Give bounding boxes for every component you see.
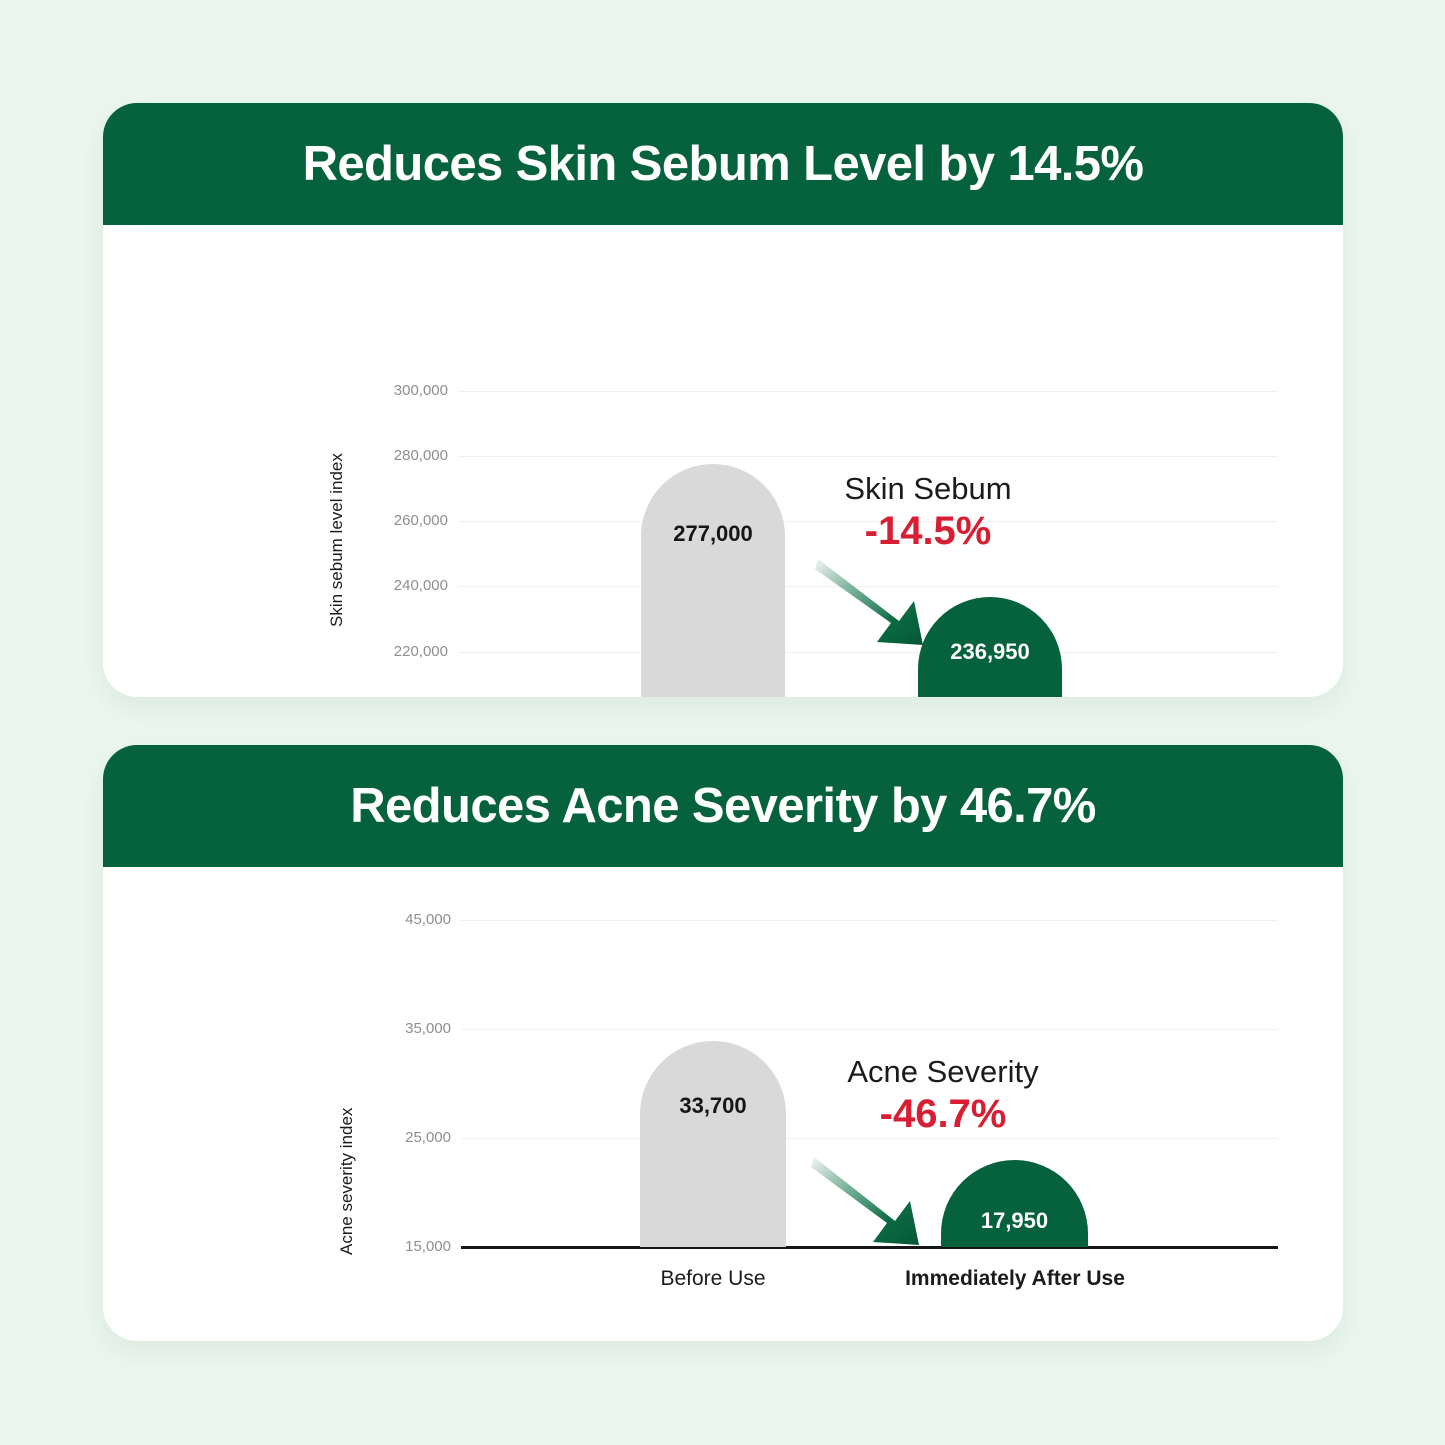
chart-acne-severity: Acne severity index 45,000 35,000 25,000…: [103, 867, 1343, 1341]
card-title-acne-severity: Reduces Acne Severity by 46.7%: [350, 778, 1096, 834]
callout-name-acne-severity: Acne Severity: [775, 1054, 1111, 1091]
gridline: [461, 1029, 1278, 1030]
card-skin-sebum: Reduces Skin Sebum Level by 14.5% Skin s…: [103, 103, 1343, 697]
callout-acne-severity: Acne Severity -46.7%: [775, 1054, 1111, 1138]
y-tick-label: 280,000: [343, 447, 448, 464]
infographic-page: Reduces Skin Sebum Level by 14.5% Skin s…: [0, 0, 1445, 1445]
y-tick-label: 45,000: [353, 911, 451, 928]
x-axis-baseline: [461, 1246, 1278, 1249]
callout-skin-sebum: Skin Sebum -14.5%: [763, 471, 1093, 555]
card-acne-severity: Reduces Acne Severity by 46.7% Acne seve…: [103, 745, 1343, 1341]
gridline: [461, 1138, 1278, 1139]
down-right-arrow-icon: [811, 1155, 951, 1249]
gridline: [461, 920, 1278, 921]
y-tick-label: 260,000: [343, 512, 448, 529]
card-header-acne-severity: Reduces Acne Severity by 46.7%: [103, 745, 1343, 867]
bar-immediately-after-use: 17,950: [941, 1160, 1088, 1247]
y-tick-label: 35,000: [353, 1020, 451, 1037]
y-tick-label: 25,000: [353, 1129, 451, 1146]
bar-value-immediately-after-use: 17,950: [941, 1208, 1088, 1234]
card-header-skin-sebum: Reduces Skin Sebum Level by 14.5%: [103, 103, 1343, 225]
bar-value-immediately-after-use: 236,950: [918, 639, 1062, 665]
chart-skin-sebum: Skin sebum level index 300,000 280,000 2…: [103, 225, 1343, 697]
x-category-label-immediately-after-use: Immediately After Use: [885, 1267, 1145, 1291]
card-title-skin-sebum: Reduces Skin Sebum Level by 14.5%: [303, 136, 1144, 192]
card-body-skin-sebum: Skin sebum level index 300,000 280,000 2…: [103, 225, 1343, 697]
y-tick-label: 240,000: [343, 577, 448, 594]
callout-delta-skin-sebum: -14.5%: [763, 508, 1093, 555]
x-category-label-before-use: Before Use: [583, 1267, 843, 1291]
y-tick-label: 15,000: [353, 1238, 451, 1255]
gridline: [458, 586, 1278, 587]
y-tick-label: 220,000: [343, 643, 448, 660]
bar-before-use: 33,700: [640, 1041, 786, 1247]
card-body-acne-severity: Acne severity index 45,000 35,000 25,000…: [103, 867, 1343, 1341]
gridline: [458, 456, 1278, 457]
callout-name-skin-sebum: Skin Sebum: [763, 471, 1093, 508]
gridline: [458, 652, 1278, 653]
gridline: [458, 391, 1278, 392]
y-tick-label: 300,000: [343, 382, 448, 399]
bar-immediately-after-use: 236,950: [918, 597, 1062, 697]
bar-value-before-use: 33,700: [640, 1093, 786, 1119]
callout-delta-acne-severity: -46.7%: [775, 1091, 1111, 1138]
